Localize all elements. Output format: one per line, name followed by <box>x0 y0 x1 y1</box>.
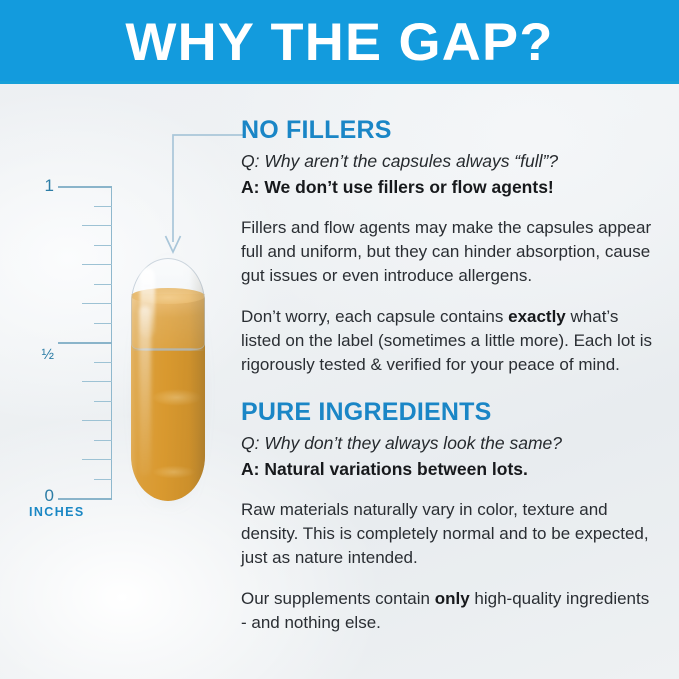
emphasis-text: only <box>435 589 470 608</box>
ruler-tick <box>58 342 112 344</box>
capsule-body-highlight <box>139 306 151 476</box>
section-title-no-fillers: NO FILLERS <box>241 116 655 144</box>
ruler-label-1: 1 <box>45 176 54 196</box>
body-paragraph: Our supplements contain only high-qualit… <box>241 587 655 635</box>
infographic-page: WHY THE GAP? 1 ½ 0 INCHES NO FILLERSQ: W <box>0 0 679 679</box>
ruler-label-half: ½ <box>41 346 54 363</box>
ruler-tick <box>94 284 112 285</box>
capsule-image <box>128 252 210 508</box>
ruler-tick <box>94 323 112 324</box>
paragraph-text: Don’t worry, each capsule contains <box>241 307 508 326</box>
question-line-no-fillers: Q: Why aren’t the capsules always “full”… <box>241 150 655 173</box>
ruler-tick <box>82 303 112 304</box>
answer-line-no-fillers: A: We don’t use fillers or flow agents! <box>241 176 655 199</box>
paragraph-text: Our supplements contain <box>241 589 435 608</box>
ruler-label-0: 0 <box>45 486 54 506</box>
answer-line-pure-ingredients: A: Natural variations between lots. <box>241 458 655 481</box>
section-spacer <box>241 377 655 398</box>
emphasis-text: exactly <box>508 307 566 326</box>
ruler-unit-label: INCHES <box>29 505 85 519</box>
ruler-tick <box>94 440 112 441</box>
ruler-tick <box>58 186 112 188</box>
ruler-tick <box>94 401 112 402</box>
callout-arrow <box>160 128 246 258</box>
ruler-tick <box>94 245 112 246</box>
paragraph-text: Fillers and flow agents may make the cap… <box>241 218 651 285</box>
ruler-tick <box>94 362 112 363</box>
page-title: WHY THE GAP? <box>0 0 679 84</box>
capsule-shell <box>131 258 205 501</box>
ruler-tick <box>82 381 112 382</box>
page-header: WHY THE GAP? <box>0 0 679 84</box>
inches-ruler: 1 ½ 0 <box>24 180 112 510</box>
body-paragraph: Raw materials naturally vary in color, t… <box>241 498 655 570</box>
body-paragraph: Don’t worry, each capsule contains exact… <box>241 305 655 377</box>
question-line-pure-ingredients: Q: Why don’t they always look the same? <box>241 432 655 455</box>
content-column: NO FILLERSQ: Why aren’t the capsules alw… <box>241 116 655 635</box>
ruler-tick <box>82 420 112 421</box>
ruler-tick <box>82 459 112 460</box>
body-paragraph: Fillers and flow agents may make the cap… <box>241 216 655 288</box>
callout-arrow-icon <box>160 128 246 258</box>
paragraph-text: Raw materials naturally vary in color, t… <box>241 500 649 567</box>
ruler-tick <box>58 498 112 500</box>
ruler-tick <box>82 225 112 226</box>
ruler-tick <box>94 206 112 207</box>
ruler-tick <box>94 479 112 480</box>
section-title-pure-ingredients: PURE INGREDIENTS <box>241 398 655 426</box>
ruler-tick <box>82 264 112 265</box>
